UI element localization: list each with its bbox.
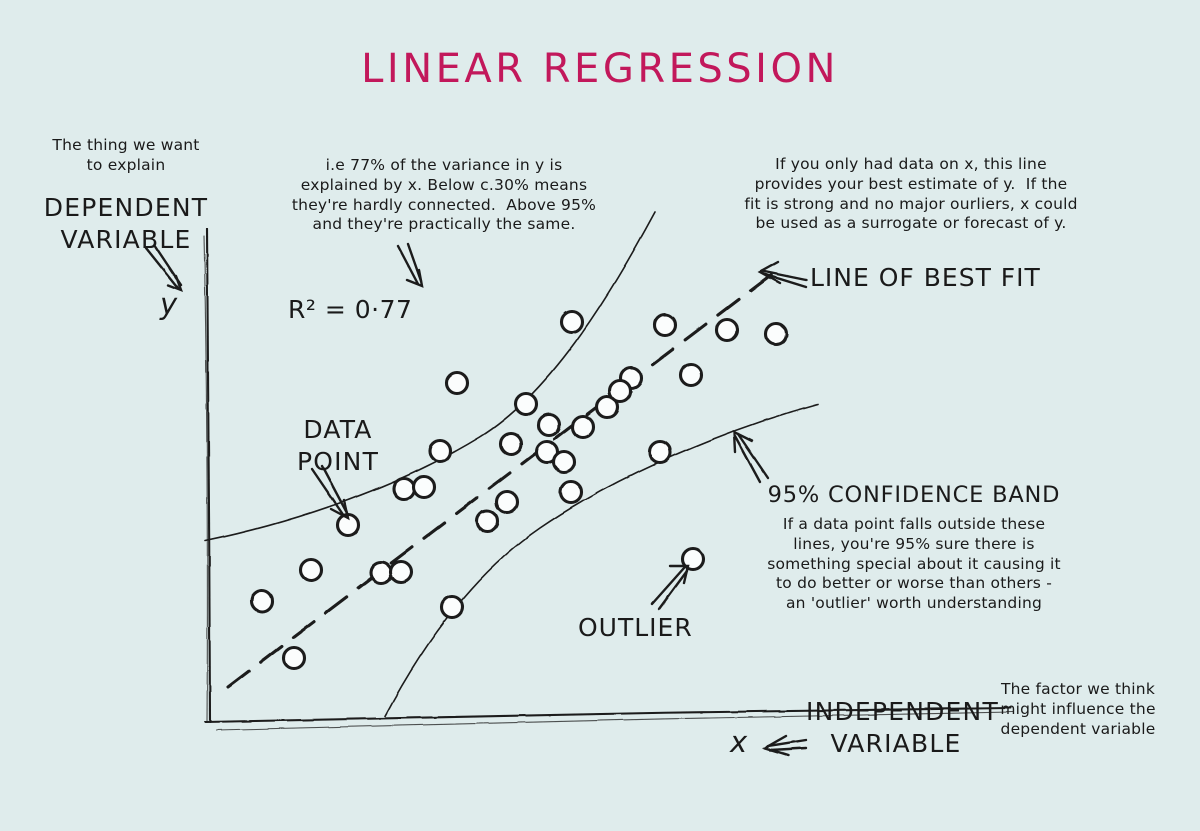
data-point — [573, 417, 594, 438]
confidence-band-label: 95% CONFIDENCE BAND — [744, 481, 1084, 510]
independent-variable-label: INDEPENDENT VARIABLE — [806, 696, 986, 760]
data-point — [562, 312, 583, 333]
data-point — [442, 597, 463, 618]
data-point — [655, 315, 676, 336]
data-point — [650, 442, 671, 463]
arrow-to-outlier — [652, 566, 688, 609]
data-point — [447, 373, 468, 394]
arrow-to-x-label — [765, 736, 806, 755]
y-axis-label: y — [160, 286, 177, 323]
data-point — [717, 320, 738, 341]
dependent-variable-note: The thing we want to explain — [28, 136, 224, 176]
arrow-to-confidence-band — [734, 432, 768, 482]
line-of-best-fit-note: If you only had data on x, this line pro… — [712, 155, 1110, 234]
data-point — [561, 482, 582, 503]
data-points-group — [252, 312, 787, 669]
data-point — [477, 511, 498, 532]
data-point — [430, 441, 451, 462]
arrow-to-r2 — [398, 244, 422, 286]
data-point — [284, 648, 305, 669]
data-point — [394, 479, 415, 500]
data-point — [414, 477, 435, 498]
confidence-band-note: If a data point falls outside these line… — [744, 515, 1084, 614]
r-squared-value: R² = 0·77 — [288, 294, 412, 326]
x-axis-label: x — [730, 724, 747, 761]
arrow-to-best-fit — [760, 262, 806, 287]
r-squared-note: i.e 77% of the variance in y is explaine… — [268, 156, 620, 235]
data-point-label: DATA POINT — [258, 414, 418, 478]
data-point — [497, 492, 518, 513]
data-point — [554, 452, 575, 473]
page-title: LINEAR REGRESSION — [0, 44, 1200, 95]
data-point — [252, 591, 273, 612]
data-point — [610, 381, 631, 402]
data-point — [371, 563, 392, 584]
data-point — [766, 324, 787, 345]
line-of-best-fit-label: LINE OF BEST FIT — [810, 262, 1041, 294]
diagram-canvas: LINEAR REGRESSION The thing we want to e… — [0, 0, 1200, 831]
outlier-label: OUTLIER — [578, 612, 693, 644]
data-point — [391, 562, 412, 583]
y-axis — [204, 229, 210, 722]
data-point — [301, 560, 322, 581]
data-point — [539, 415, 560, 436]
data-point — [501, 434, 522, 455]
dependent-variable-label: DEPENDENT VARIABLE — [26, 192, 226, 256]
data-point — [516, 394, 537, 415]
data-point — [681, 365, 702, 386]
independent-variable-note: The factor we think might influence the … — [988, 680, 1168, 739]
